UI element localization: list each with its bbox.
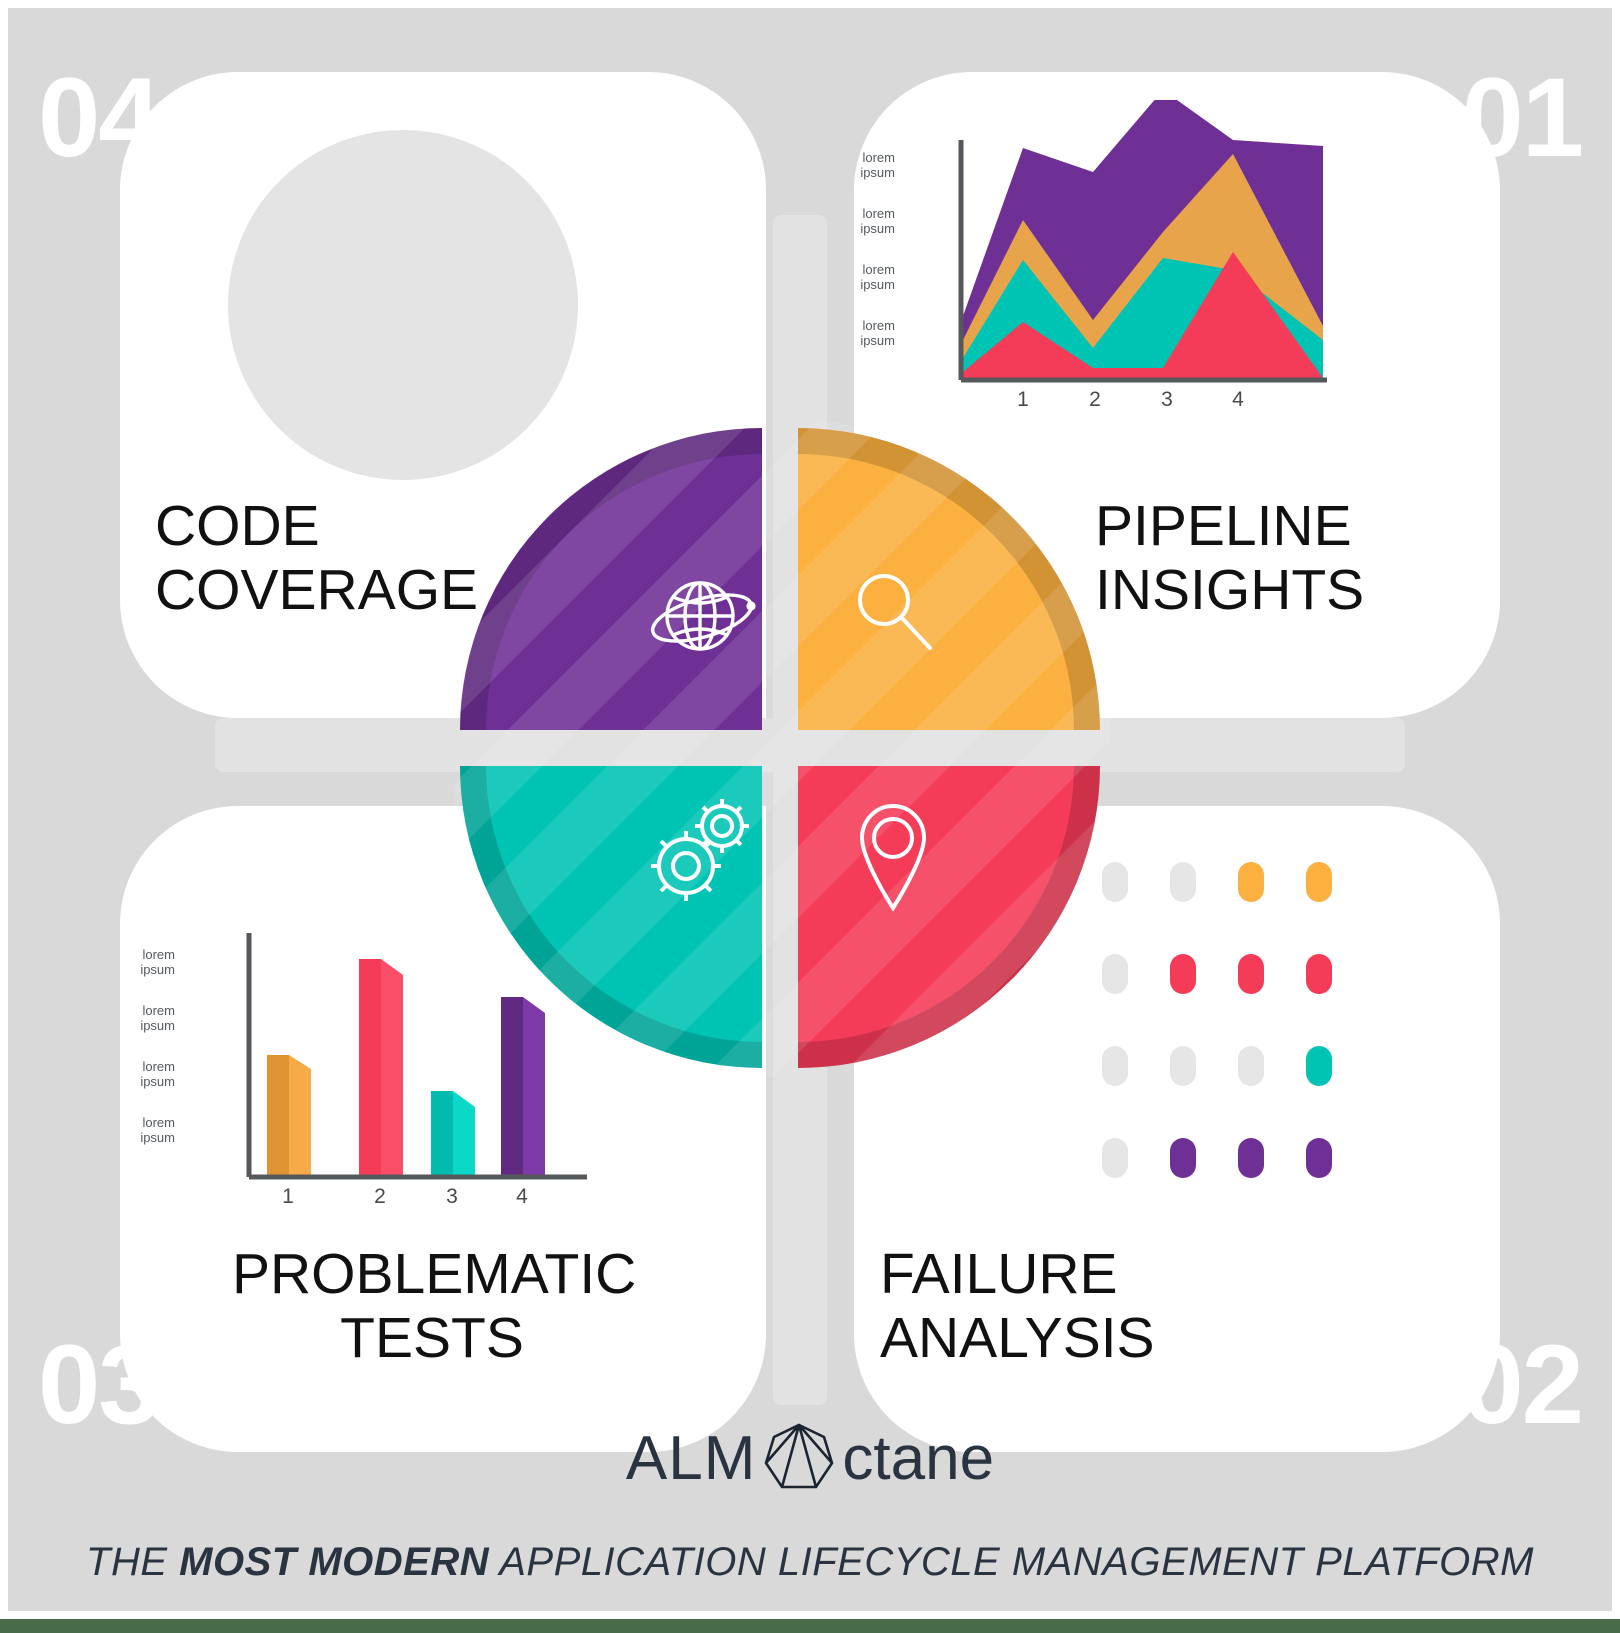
poster-frame bbox=[0, 0, 1620, 1619]
infographic-poster: 04 01 03 02 lorem ipsum lorem ipsum l bbox=[0, 0, 1620, 1633]
bottom-accent-strip bbox=[0, 1619, 1620, 1633]
